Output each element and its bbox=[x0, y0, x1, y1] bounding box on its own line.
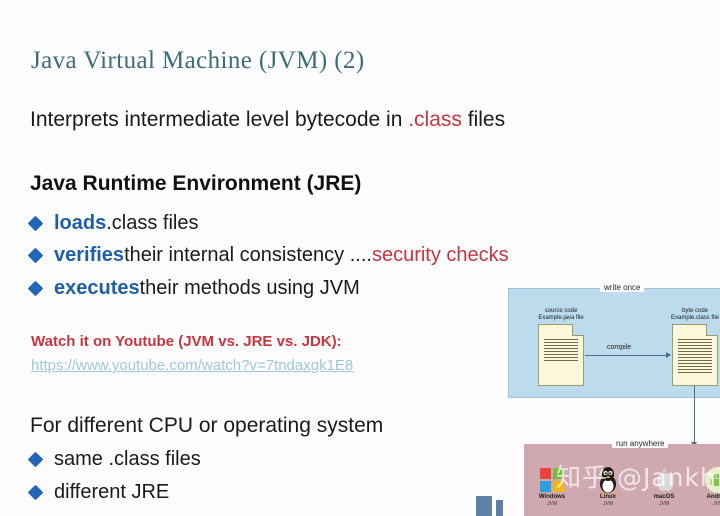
platform-name: Android bbox=[698, 494, 720, 501]
platform-jvm-label: JVM bbox=[532, 501, 572, 507]
compile-label: compile bbox=[604, 344, 634, 351]
source-caption-line-2: Example.java file bbox=[521, 315, 601, 322]
lead-text-before: Interprets intermediate level bytecode i… bbox=[30, 108, 408, 131]
bullet-text: same .class files bbox=[54, 448, 201, 471]
platform-windows: Windows JVM bbox=[532, 466, 572, 507]
byte-caption-line-1: byte code bbox=[655, 308, 720, 315]
write-once-label: write once bbox=[600, 283, 644, 292]
diamond-bullet-icon bbox=[28, 452, 44, 468]
list-item: verifies their internal consistency ....… bbox=[30, 244, 509, 267]
diamond-bullet-icon bbox=[28, 281, 44, 297]
lead-class-highlight: .class bbox=[408, 108, 462, 131]
windows-logo-icon bbox=[532, 466, 572, 494]
byte-code-document-icon bbox=[672, 324, 718, 386]
apple-logo-icon bbox=[644, 466, 684, 494]
youtube-callout-heading: Watch it on Youtube (JVM vs. JRE vs. JDK… bbox=[31, 333, 342, 350]
list-item: same .class files bbox=[30, 448, 201, 471]
write-once-run-anywhere-diagram: write once source code Example.java file… bbox=[476, 282, 720, 516]
source-caption-line-1: source code bbox=[521, 308, 601, 315]
compile-arrow-icon bbox=[585, 355, 670, 356]
diamond-bullet-icon bbox=[28, 485, 44, 501]
bullet-text: .class files bbox=[106, 212, 198, 235]
lead-text-after: files bbox=[462, 108, 505, 131]
corner-decoration-icon bbox=[476, 478, 514, 516]
lead-paragraph: Interprets intermediate level bytecode i… bbox=[30, 108, 505, 132]
source-code-document-icon bbox=[538, 324, 584, 386]
byte-lines-glyph bbox=[678, 339, 712, 379]
diamond-bullet-icon bbox=[28, 216, 44, 232]
section-heading-jre: Java Runtime Environment (JRE) bbox=[30, 172, 361, 196]
slide-canvas: Java Virtual Machine (JVM) (2) Interpret… bbox=[0, 0, 720, 516]
platform-linux: Linux JVM bbox=[588, 466, 628, 507]
bullet-text: their internal consistency .... bbox=[124, 244, 372, 267]
list-item: loads .class files bbox=[30, 212, 199, 235]
platform-jvm-label: JVM bbox=[698, 501, 720, 507]
platform-jvm-label: JVM bbox=[644, 501, 684, 507]
lower-heading: For different CPU or operating system bbox=[30, 414, 383, 438]
linux-penguin-icon bbox=[588, 466, 628, 494]
platform-name: Windows bbox=[532, 494, 572, 501]
source-code-caption: source code Example.java file bbox=[521, 308, 601, 322]
code-lines-glyph bbox=[544, 339, 578, 379]
byte-code-caption: byte code Example.class file bbox=[655, 308, 720, 322]
bullet-keyword: loads bbox=[54, 212, 106, 235]
platform-macos: macOS JVM bbox=[644, 466, 684, 507]
android-logo-icon bbox=[698, 466, 720, 494]
bullet-tail: security checks bbox=[372, 244, 509, 267]
deploy-arrow-icon bbox=[694, 386, 695, 446]
diamond-bullet-icon bbox=[28, 248, 44, 264]
bullet-keyword: executes bbox=[54, 277, 140, 300]
platform-name: Linux bbox=[588, 494, 628, 501]
platform-android: Android JVM bbox=[698, 466, 720, 507]
bullet-text: different JRE bbox=[54, 481, 169, 504]
bullet-text: their methods using JVM bbox=[140, 277, 360, 300]
platform-name: macOS bbox=[644, 494, 684, 501]
platform-jvm-label: JVM bbox=[588, 501, 628, 507]
list-item: executes their methods using JVM bbox=[30, 277, 360, 300]
youtube-link[interactable]: https://www.youtube.com/watch?v=7tndaxgk… bbox=[31, 357, 353, 374]
byte-caption-line-2: Example.class file bbox=[655, 315, 720, 322]
list-item: different JRE bbox=[30, 481, 169, 504]
page-title: Java Virtual Machine (JVM) (2) bbox=[31, 47, 365, 75]
run-anywhere-label: run anywhere bbox=[612, 439, 668, 448]
bullet-keyword: verifies bbox=[54, 244, 124, 267]
